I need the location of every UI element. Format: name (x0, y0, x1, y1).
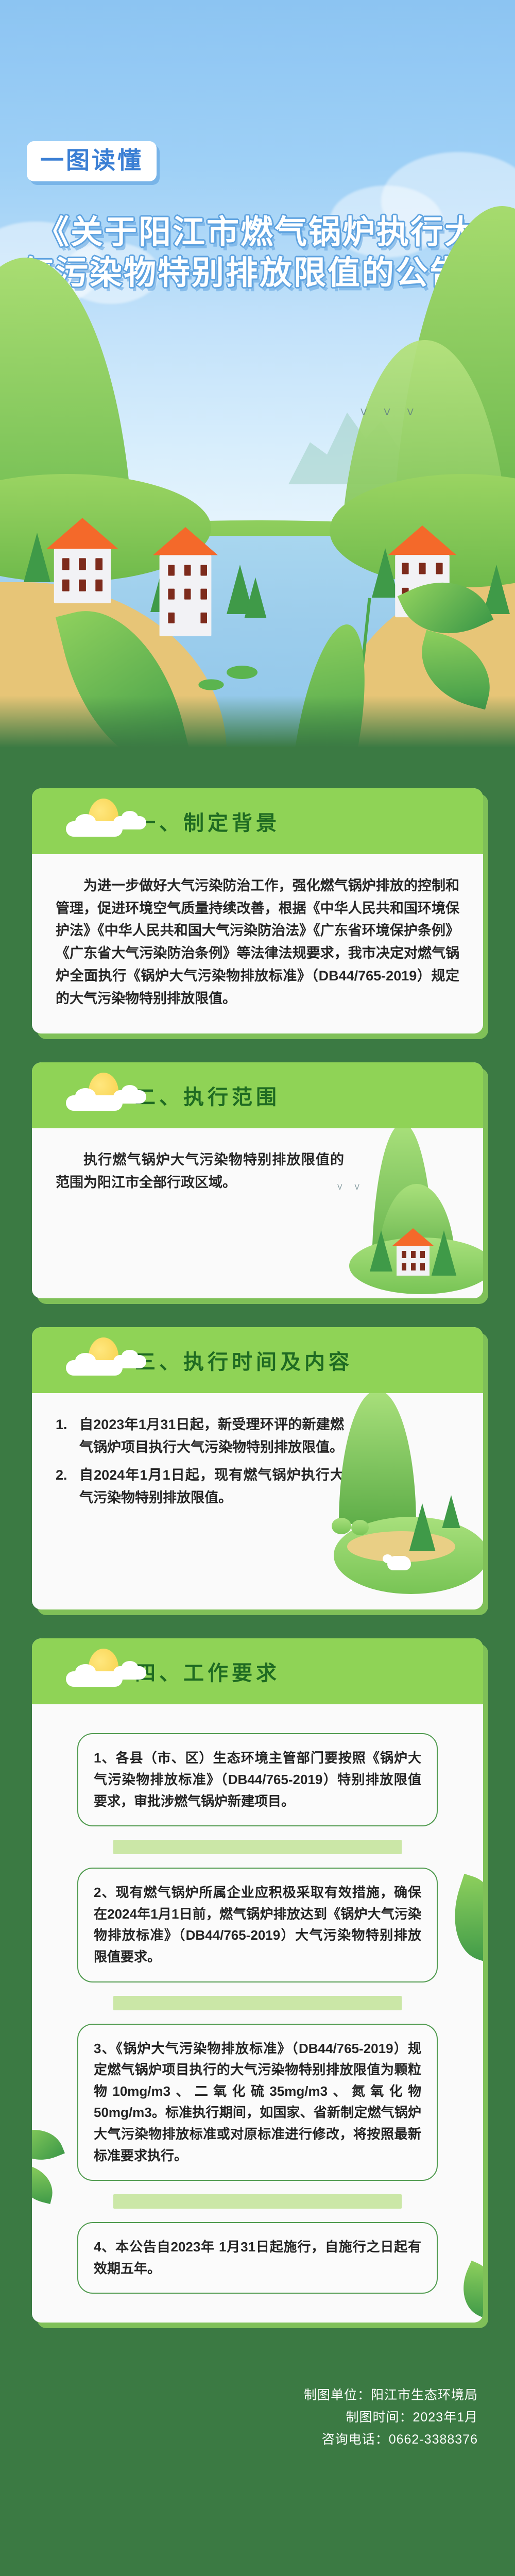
list-item-text: 自2024年1月1日起，现有燃气锅炉执行大气污染物特别排放限值。 (79, 1464, 344, 1509)
footer-phone: 咨询电话：0662-3388376 (0, 2429, 478, 2451)
sun-cloud-ornament (51, 1646, 149, 1697)
hero-fade-overlay (0, 696, 515, 752)
yitududong-badge: 一图读懂 (27, 141, 157, 181)
section-background: 三、执行时间及内容 1. 自2023年1月31日起，新受理环评的新建燃气锅炉项目… (32, 1327, 483, 1609)
sun-cloud-ornament (51, 1070, 149, 1121)
pine-tree-icon (370, 1230, 392, 1272)
requirement-text-1: 1、各县（市、区）生态环境主管部门要按照《锅炉大气污染物排放标准》（DB44/7… (94, 1748, 421, 1812)
lily-pad-icon (227, 666, 257, 679)
pine-tree-icon (409, 1503, 436, 1551)
bush-icon (332, 1518, 351, 1534)
timeline-list: 1. 自2023年1月31日起，新受理环评的新建燃气锅炉项目执行大气污染物特别排… (56, 1414, 459, 1509)
leaf-icon (452, 2261, 483, 2319)
cloud-icon (75, 814, 96, 829)
house-icon (47, 518, 118, 603)
requirement-separator (113, 1840, 402, 1854)
requirement-text-2: 2、现有燃气锅炉所属企业应积极采取有效措施，确保在2024年1月1日前，燃气锅炉… (94, 1882, 421, 1968)
list-item-number: 1. (56, 1414, 79, 1459)
pine-tree-icon (432, 1230, 456, 1276)
section-paragraph-1: 为进一步做好大气污染防治工作，强化燃气锅炉排放的控制和管理，促进环境空气质量持续… (56, 875, 459, 1010)
grass-blob-decoration (349, 1238, 483, 1294)
path-decoration (347, 1531, 455, 1562)
requirement-separator (113, 1996, 402, 2010)
section-title-3: 三、执行时间及内容 (135, 1345, 353, 1375)
list-item-number: 2. (56, 1464, 79, 1509)
house-icon (392, 1228, 434, 1276)
requirement-card-1: 1、各县（市、区）生态环境主管部门要按照《锅炉大气污染物排放标准》（DB44/7… (77, 1733, 438, 1826)
requirement-separator (113, 2194, 402, 2209)
leaf-icon (32, 2164, 58, 2204)
cloud-icon (122, 811, 138, 823)
sun-cloud-ornament (51, 1334, 149, 1386)
hill-decoration (378, 1184, 455, 1266)
pine-tree-icon (245, 578, 267, 618)
footer: 制图单位：阳江市生态环境局 制图时间：2023年1月 咨询电话：0662-338… (0, 2351, 515, 2498)
house-icon (153, 527, 218, 636)
section-header-1: 一、制定背景 (32, 788, 483, 854)
leaf-icon (440, 1874, 483, 1962)
section-body-4: 1、各县（市、区）生态环境主管部门要按照《锅炉大气污染物排放标准》（DB44/7… (32, 1704, 483, 2323)
footer-unit: 制图单位：阳江市生态环境局 (0, 2384, 478, 2406)
section-header-3: 三、执行时间及内容 (32, 1327, 483, 1393)
section-header-2: 二、执行范围 (32, 1062, 483, 1128)
requirement-card-2: 2、现有燃气锅炉所属企业应积极采取有效措施，确保在2024年1月1日前，燃气锅炉… (77, 1868, 438, 1982)
section-body-3: 1. 自2023年1月31日起，新受理环评的新建燃气锅炉项目执行大气污染物特别排… (32, 1393, 483, 1609)
section-background: 一、制定背景 为进一步做好大气污染防治工作，强化燃气锅炉排放的控制和管理，促进环… (32, 788, 483, 1033)
infographic-poster: 一图读懂 《关于阳江市燃气锅炉执行大气污染物特别排放限值的公告》 (0, 0, 515, 2576)
list-item: 1. 自2023年1月31日起，新受理环评的新建燃气锅炉项目执行大气污染物特别排… (56, 1414, 344, 1459)
section-title-1: 一、制定背景 (135, 806, 280, 836)
section-body-1: 为进一步做好大气污染防治工作，强化燃气锅炉排放的控制和管理，促进环境空气质量持续… (32, 854, 483, 1033)
bush-icon (351, 1520, 369, 1535)
section-background: 四、工作要求 1、各县（市、区）生态环境主管部门要按照《锅炉大气污染物排放标准》… (32, 1638, 483, 2323)
requirement-card-3: 3、《锅炉大气污染物排放标准》（DB44/765-2019）规定燃气锅炉项目执行… (77, 2024, 438, 2181)
requirement-card-4: 4、本公告自2023年 1月31日起施行，自施行之日起有效期五年。 (77, 2222, 438, 2294)
birds-icon: ᐯ ᐯ ᐯ (360, 407, 421, 418)
lily-pad-icon (198, 679, 224, 690)
grass-blob-decoration (334, 1517, 483, 1594)
top-spacer (0, 752, 515, 788)
hero-illustration: 一图读懂 《关于阳江市燃气锅炉执行大气污染物特别排放限值的公告》 (0, 0, 515, 752)
section-title-2: 二、执行范围 (135, 1080, 280, 1110)
sheep-icon (387, 1556, 411, 1570)
hill-decoration (372, 1128, 434, 1273)
requirement-text-3: 3、《锅炉大气污染物排放标准》（DB44/765-2019）规定燃气锅炉项目执行… (94, 2038, 421, 2167)
section-body-2: 执行燃气锅炉大气污染物特别排放限值的范围为阳江市全部行政区域。 ᐯ ᐯ (32, 1128, 483, 1298)
footer-time: 制图时间：2023年1月 (0, 2406, 478, 2429)
sun-cloud-ornament (51, 795, 149, 847)
section-header-4: 四、工作要求 (32, 1638, 483, 1704)
section-background: 二、执行范围 执行燃气锅炉大气污染物特别排放限值的范围为阳江市全部行政区域。 ᐯ… (32, 1062, 483, 1298)
requirement-text-4: 4、本公告自2023年 1月31日起施行，自施行之日起有效期五年。 (94, 2236, 421, 2279)
section-title-4: 四、工作要求 (135, 1656, 280, 1686)
list-item: 2. 自2024年1月1日起，现有燃气锅炉执行大气污染物特别排放限值。 (56, 1464, 344, 1509)
list-item-text: 自2023年1月31日起，新受理环评的新建燃气锅炉项目执行大气污染物特别排放限值… (79, 1414, 344, 1459)
section-paragraph-2: 执行燃气锅炉大气污染物特别排放限值的范围为阳江市全部行政区域。 (56, 1149, 344, 1194)
leaf-icon (32, 2120, 65, 2170)
